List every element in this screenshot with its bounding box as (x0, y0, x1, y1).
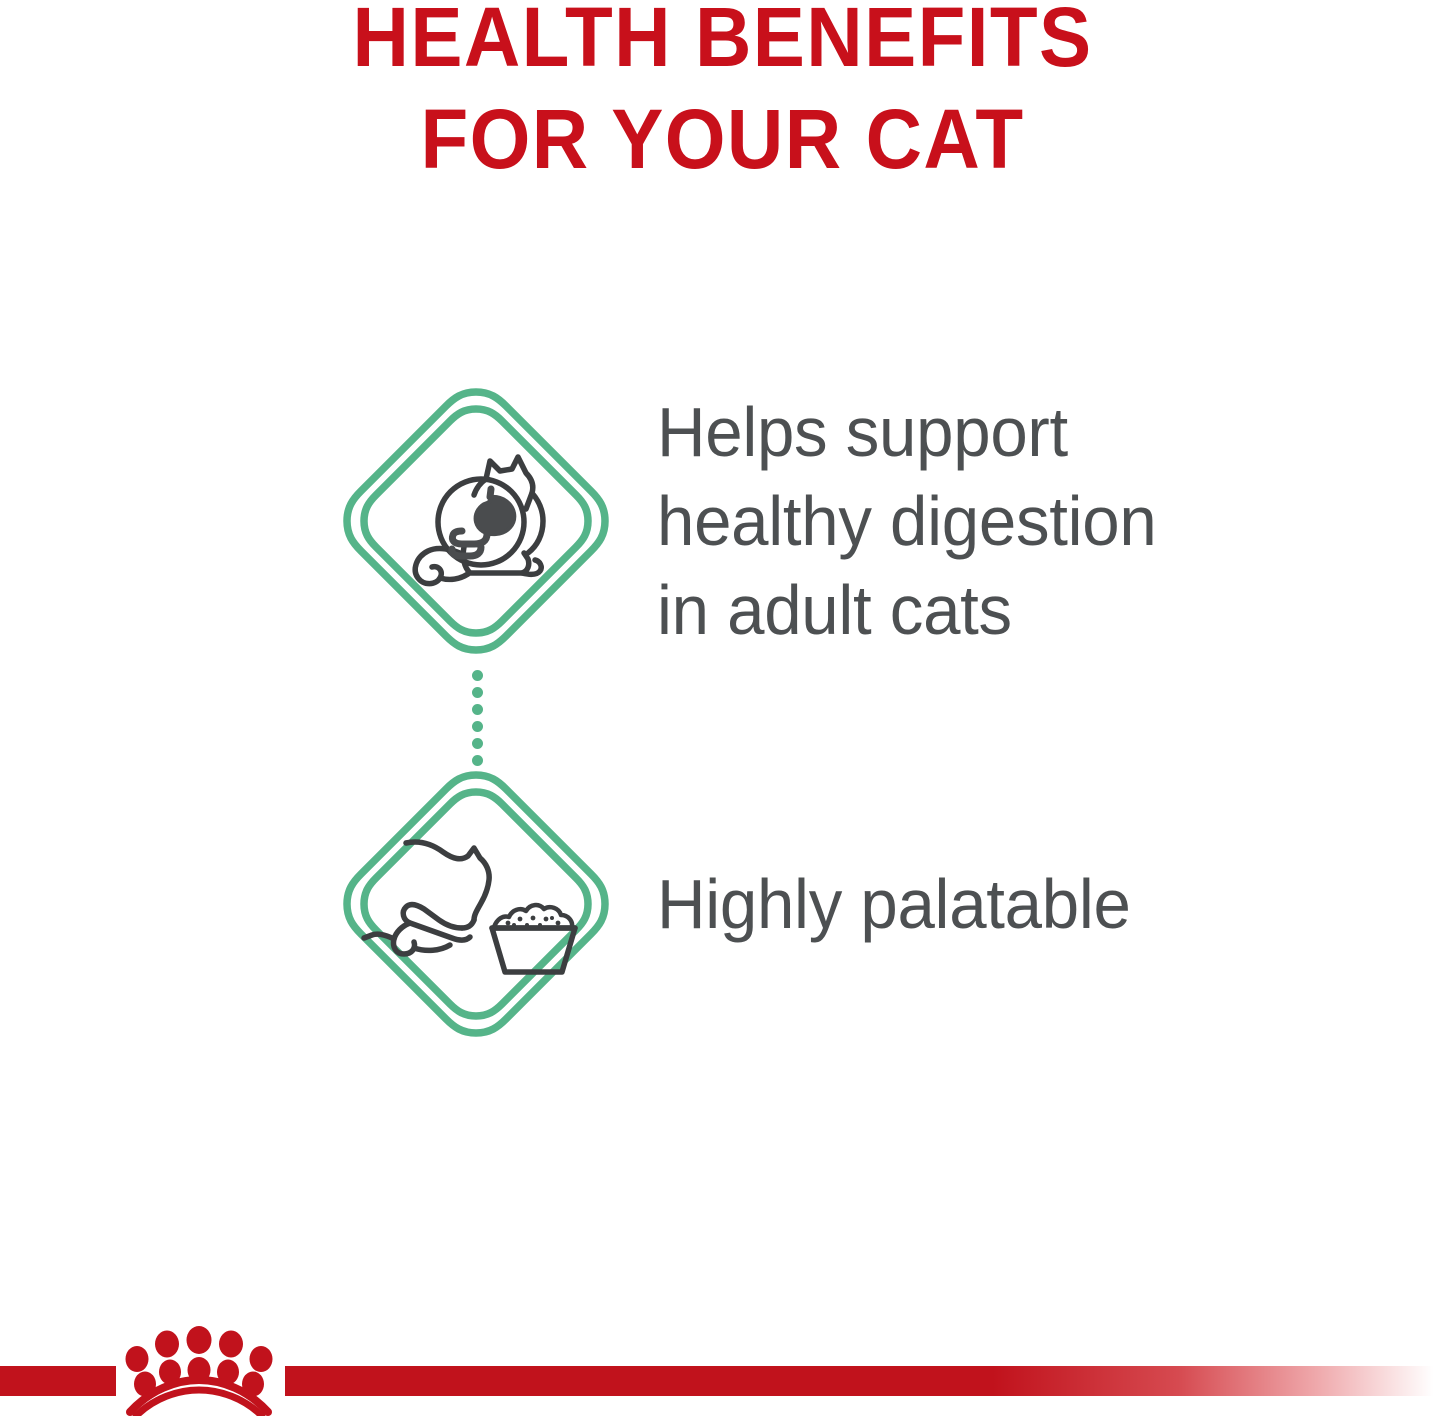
page-title-line-1: HEALTH BENEFITS (51, 0, 1395, 88)
cat-eating-from-bowl-icon (340, 768, 612, 1040)
connector-dot (472, 670, 483, 681)
cat-digestive-system-icon (340, 385, 612, 657)
benefit-label-palatability: Highly palatable (657, 860, 1387, 949)
connector-dot (472, 687, 483, 698)
footer-bar-left-segment (0, 1366, 116, 1396)
health-benefits-infographic: HEALTH BENEFITS FOR YOUR CAT (0, 0, 1445, 1416)
benefit-label-digestion: Helps support healthy digestion in adult… (657, 388, 1387, 655)
connector-dot (472, 704, 483, 715)
royal-canin-crown-logo (108, 1322, 290, 1416)
connector-dot (472, 738, 483, 749)
page-title: HEALTH BENEFITS FOR YOUR CAT (0, 0, 1445, 190)
connector-dot (472, 721, 483, 732)
benefit-item-palatability: Highly palatable (340, 768, 1417, 1040)
benefit-item-digestion: Helps support healthy digestion in adult… (340, 385, 1417, 657)
dotted-connector (466, 670, 488, 766)
footer-bar-right-segment (285, 1366, 1445, 1396)
brand-footer (0, 1300, 1445, 1416)
connector-dot (472, 755, 483, 766)
stomach-shape (476, 497, 515, 534)
page-title-line-2: FOR YOUR CAT (51, 88, 1395, 190)
